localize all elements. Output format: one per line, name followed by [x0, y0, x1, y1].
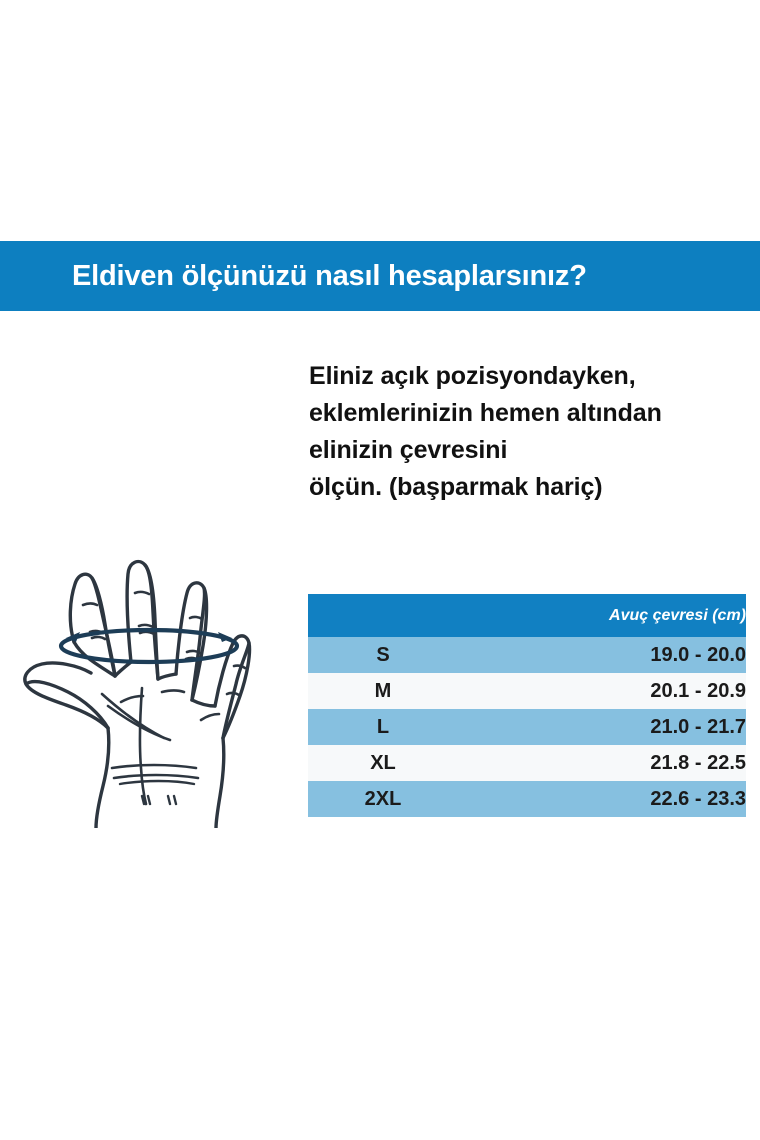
header-banner: Eldiven ölçünüzü nasıl hesaplarsınız? — [0, 241, 760, 311]
page-title: Eldiven ölçünüzü nasıl hesaplarsınız? — [72, 262, 587, 291]
measuring-tape-ellipse — [61, 630, 237, 662]
table-header-row: Avuç çevresi (cm) — [308, 594, 746, 637]
table-body: S 19.0 - 20.0 M 20.1 - 20.9 L 21.0 - 21.… — [308, 637, 746, 817]
cell-range: 19.0 - 20.0 — [458, 637, 746, 673]
cell-size: 2XL — [308, 781, 458, 817]
cell-size: L — [308, 709, 458, 745]
table-row: L 21.0 - 21.7 — [308, 709, 746, 745]
cell-size: S — [308, 637, 458, 673]
instruction-line-2: eklemlerinizin hemen altından — [309, 395, 749, 432]
cell-range: 21.8 - 22.5 — [458, 745, 746, 781]
cell-size: M — [308, 673, 458, 709]
table-header: Avuç çevresi (cm) — [308, 594, 746, 637]
glove-size-table: Avuç çevresi (cm) S 19.0 - 20.0 M 20.1 -… — [308, 594, 746, 817]
cell-range: 22.6 - 23.3 — [458, 781, 746, 817]
measuring-instructions: Eliniz açık pozisyondayken, eklemleriniz… — [309, 358, 749, 506]
table-row: M 20.1 - 20.9 — [308, 673, 746, 709]
hand-illustration — [4, 466, 294, 828]
column-header-size — [308, 594, 458, 637]
cell-size: XL — [308, 745, 458, 781]
column-header-palm-circumference: Avuç çevresi (cm) — [458, 594, 746, 637]
instruction-line-4: ölçün. (başparmak hariç) — [309, 469, 749, 506]
cell-range: 21.0 - 21.7 — [458, 709, 746, 745]
table-row: S 19.0 - 20.0 — [308, 637, 746, 673]
table-row: 2XL 22.6 - 23.3 — [308, 781, 746, 817]
cell-range: 20.1 - 20.9 — [458, 673, 746, 709]
table-row: XL 21.8 - 22.5 — [308, 745, 746, 781]
instruction-line-3: elinizin çevresini — [309, 432, 749, 469]
open-hand-icon — [4, 466, 294, 828]
instruction-line-1: Eliniz açık pozisyondayken, — [309, 358, 749, 395]
